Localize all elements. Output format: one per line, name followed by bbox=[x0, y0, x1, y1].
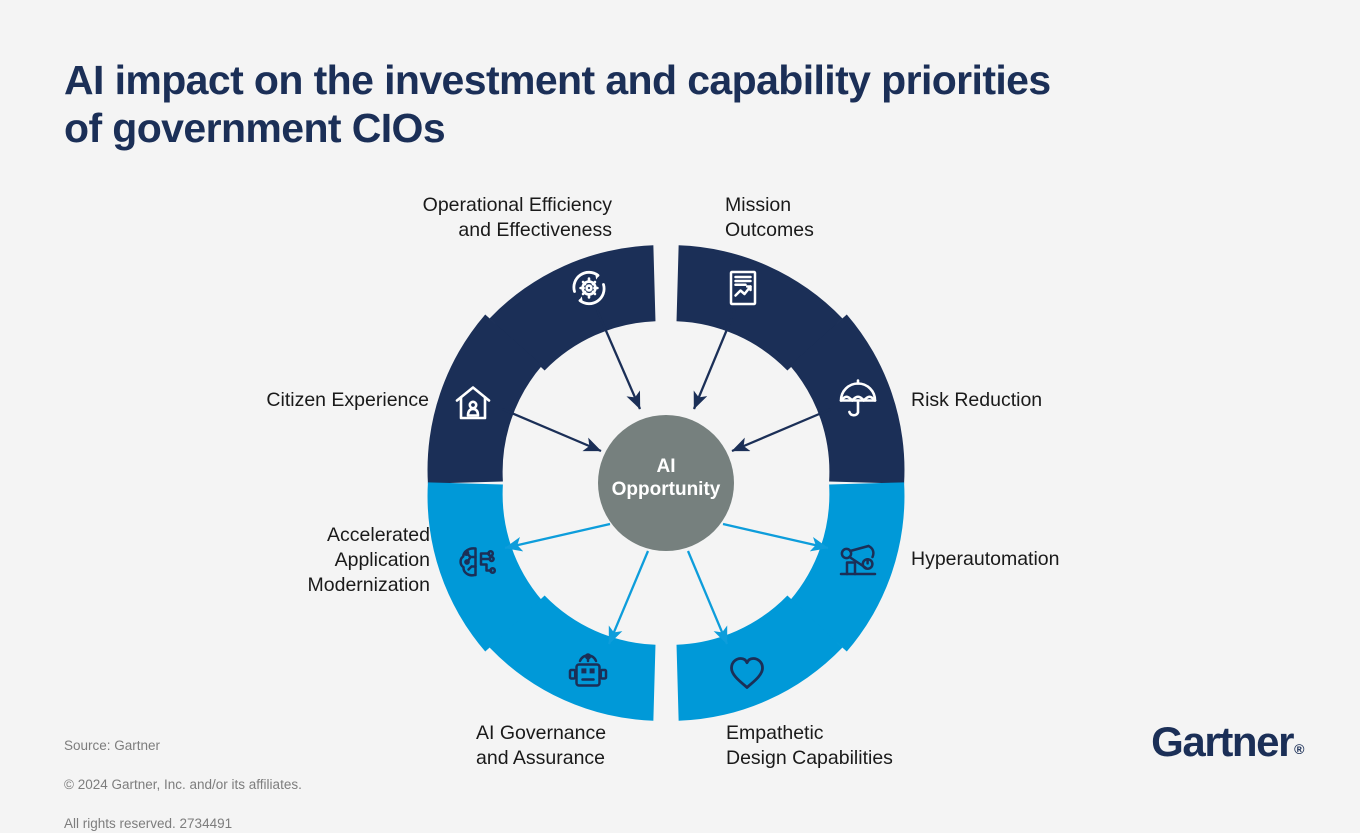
arrow-hub-to-empathetic-design bbox=[688, 551, 727, 644]
label-hyperautomation: Hyperautomation bbox=[911, 547, 1211, 572]
label-citizen-experience: Citizen Experience bbox=[100, 388, 429, 413]
hub-line-1: AI bbox=[657, 456, 676, 477]
logo-text: Gartner bbox=[1151, 718, 1293, 765]
hub-line-2: Opportunity bbox=[612, 479, 721, 500]
footer-copyright: © 2024 Gartner, Inc. and/or its affiliat… bbox=[64, 777, 302, 792]
label-ai-governance: AI Governance and Assurance bbox=[476, 721, 716, 771]
arrow-hub-to-accelerated-app-modernization bbox=[505, 524, 610, 548]
arrow-risk-reduction-to-hub bbox=[732, 409, 831, 451]
hub-ai-opportunity[interactable]: AI Opportunity bbox=[598, 415, 734, 551]
label-accelerated-app-modernization: Accelerated Application Modernization bbox=[120, 523, 430, 598]
label-empathetic-design: Empathetic Design Capabilities bbox=[726, 721, 1006, 771]
arrow-citizen-experience-to-hub bbox=[502, 409, 601, 451]
label-risk-reduction: Risk Reduction bbox=[911, 388, 1211, 413]
footer-attribution: Source: Gartner © 2024 Gartner, Inc. and… bbox=[64, 716, 302, 833]
footer-rights: All rights reserved. 2734491 bbox=[64, 816, 232, 831]
arrow-hub-to-ai-governance bbox=[609, 551, 648, 644]
logo-trademark: ® bbox=[1294, 741, 1303, 757]
gartner-logo: Gartner® bbox=[1151, 718, 1302, 766]
label-mission-outcomes: Mission Outcomes bbox=[725, 193, 1025, 243]
arrow-hub-to-hyperautomation bbox=[723, 524, 828, 548]
label-operational-efficiency: Operational Efficiency and Effectiveness bbox=[205, 193, 612, 243]
ai-opportunity-wheel-diagram: AI Opportunity bbox=[0, 0, 1360, 830]
footer-source: Source: Gartner bbox=[64, 738, 160, 753]
